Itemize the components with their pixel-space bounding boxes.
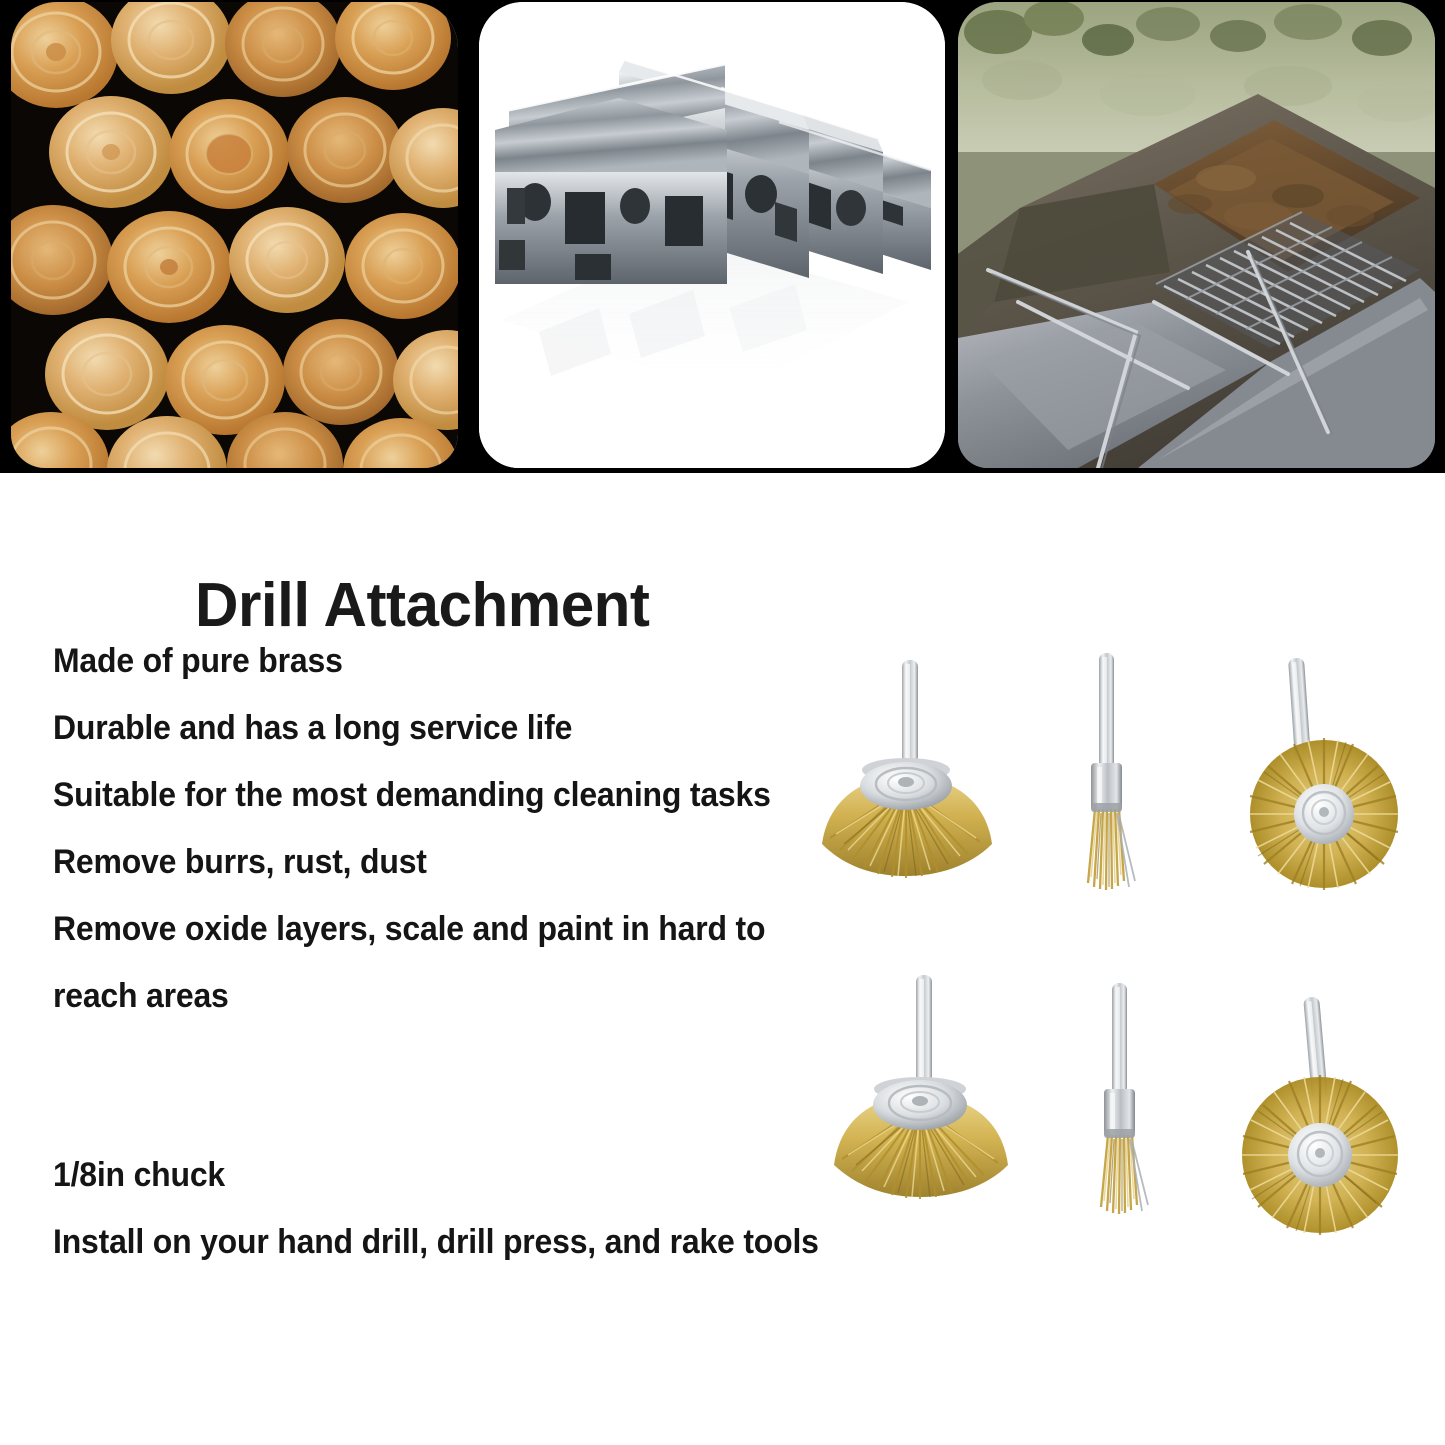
feature-item: Durable and has a long service life bbox=[53, 695, 824, 762]
brass-flat-wheel-brush-top-right bbox=[1238, 656, 1438, 891]
brass-cup-brush-bottom-left bbox=[818, 973, 1033, 1208]
brass-cup-brush-top-left bbox=[806, 658, 1016, 888]
stacked-logs-photo bbox=[11, 2, 458, 468]
brass-end-brush-top-center bbox=[1055, 651, 1165, 891]
product-description-section: Drill Attachment Made of pure brass Dura… bbox=[0, 473, 1445, 1445]
feature-item: Install on your hand drill, drill press,… bbox=[53, 1209, 824, 1276]
brass-end-brush-bottom-center bbox=[1072, 981, 1182, 1216]
feature-item: Made of pure brass bbox=[53, 628, 824, 695]
feature-item: 1/8in chuck bbox=[53, 1142, 824, 1209]
brass-flat-wheel-brush-bottom-right bbox=[1218, 995, 1433, 1240]
photo-banner bbox=[0, 0, 1445, 473]
feature-list-secondary: 1/8in chuck Install on your hand drill, … bbox=[53, 1142, 873, 1276]
feature-list-primary: Made of pure brass Durable and has a lon… bbox=[53, 628, 873, 1030]
bbq-grill-photo bbox=[958, 2, 1435, 468]
feature-item: Suitable for the most demanding cleaning… bbox=[53, 762, 824, 829]
feature-item: Remove burrs, rust, dust bbox=[53, 829, 824, 896]
aluminum-extrusion-photo bbox=[479, 2, 945, 468]
feature-item: Remove oxide layers, scale and paint in … bbox=[53, 896, 824, 1030]
